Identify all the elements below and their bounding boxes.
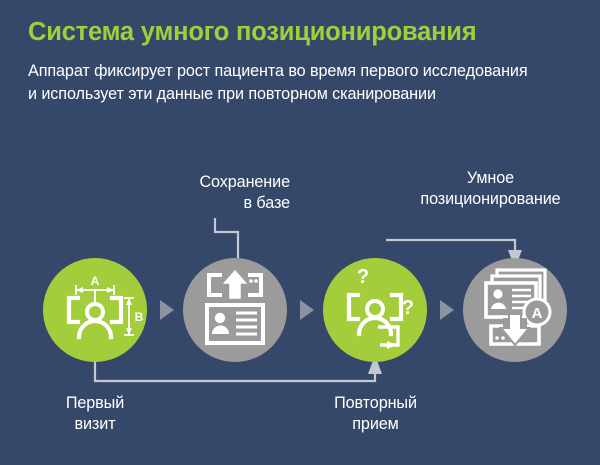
label-save-line-2: в базе [105, 193, 290, 214]
connector-lines [95, 218, 515, 381]
label-repeat-line-2: прием [288, 414, 463, 435]
arrow-step1-step2 [160, 300, 174, 320]
infographic-canvas: Система умного позиционирования Аппарат … [0, 0, 600, 465]
arrow-step2-step3 [300, 300, 314, 320]
label-save-line-1: Сохранение [105, 172, 290, 193]
step-2-node[interactable] [183, 258, 287, 362]
measurement-b-label: B [135, 310, 144, 324]
label-first-line-1: Первый [20, 393, 170, 414]
label-smart-line-1: Умное [388, 168, 593, 189]
step-4-node[interactable]: A [463, 258, 567, 362]
label-first-visit: Первый визит [20, 393, 170, 435]
connector-step1-to-step3 [95, 362, 375, 381]
connector-smart-to-step4 [386, 240, 515, 252]
label-repeat-line-1: Повторный [288, 393, 463, 414]
connector-save-to-step2 [215, 218, 238, 258]
label-repeat-visit: Повторный прием [288, 393, 463, 435]
label-first-line-2: визит [20, 414, 170, 435]
records-badge-label: A [532, 305, 543, 322]
label-save-to-database: Сохранение в базе [105, 172, 290, 214]
question-mark-top: ? [357, 266, 369, 288]
label-smart-line-2: позиционирование [388, 189, 593, 210]
label-smart-positioning: Умное позиционирование [388, 168, 593, 210]
arrow-step3-step4 [440, 300, 454, 320]
measurement-a-label: A [91, 274, 100, 288]
step-1-node[interactable]: A B [43, 258, 147, 362]
question-mark-right: ? [402, 297, 414, 319]
step-3-node[interactable]: ? ? [323, 258, 427, 362]
